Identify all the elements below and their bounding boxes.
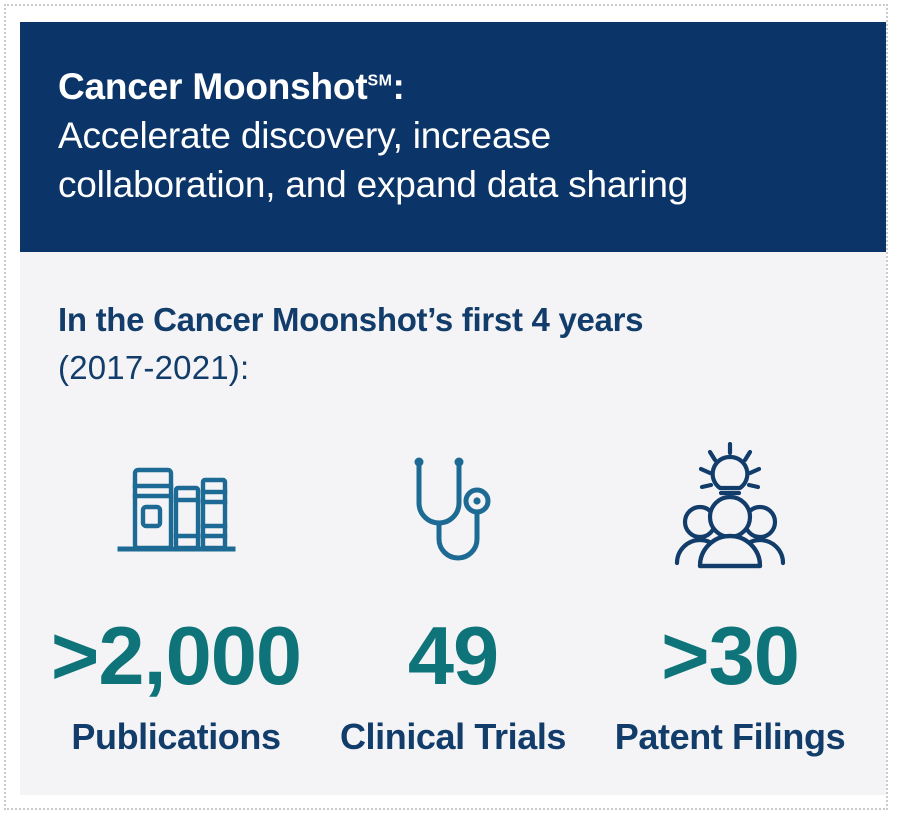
- page-title: Cancer MoonshotSM: Accelerate discovery,…: [58, 62, 852, 209]
- stats-row: >2,000 Publications: [38, 442, 868, 757]
- stat-value-patent-filings: >30: [661, 614, 799, 697]
- subheading-strong: In the Cancer Moonshot’s first 4 years: [58, 296, 848, 344]
- infographic-frame: Cancer MoonshotSM: Accelerate discovery,…: [4, 4, 888, 810]
- title-colon: :: [392, 66, 404, 107]
- header-band: Cancer MoonshotSM: Accelerate discovery,…: [20, 22, 886, 252]
- stat-publications: >2,000 Publications: [38, 442, 314, 757]
- subheading: In the Cancer Moonshot’s first 4 years (…: [58, 296, 848, 392]
- stethoscope-icon: [398, 442, 508, 570]
- stat-label-patent-filings: Patent Filings: [615, 717, 845, 757]
- infographic-card: Cancer MoonshotSM: Accelerate discovery,…: [20, 22, 886, 795]
- subheading-year-range: (2017-2021):: [58, 344, 848, 392]
- stat-patent-filings: >30 Patent Filings: [592, 442, 868, 757]
- stat-value-clinical-trials: 49: [408, 614, 498, 697]
- books-icon: [114, 442, 238, 570]
- title-line-1: Accelerate discovery, increase: [58, 111, 852, 160]
- title-line-2: collaboration, and expand data sharing: [58, 160, 852, 209]
- people-lightbulb-icon: [662, 442, 798, 570]
- stat-value-publications: >2,000: [51, 614, 301, 697]
- title-brand-line: Cancer MoonshotSM:: [58, 62, 852, 111]
- stat-label-publications: Publications: [71, 717, 280, 757]
- stat-label-clinical-trials: Clinical Trials: [340, 717, 566, 757]
- brand-name: Cancer Moonshot: [58, 66, 367, 107]
- stat-clinical-trials: 49 Clinical Trials: [315, 442, 591, 757]
- service-mark: SM: [367, 73, 392, 90]
